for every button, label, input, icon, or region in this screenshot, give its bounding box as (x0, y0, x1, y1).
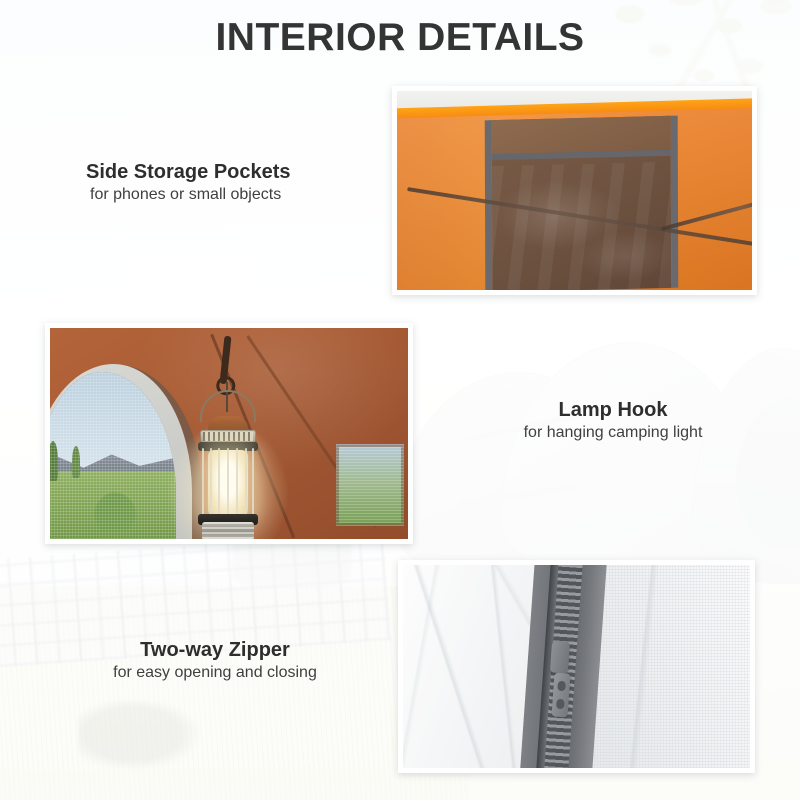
caption-heading: Side Storage Pockets (86, 160, 291, 185)
caption-subheading: for phones or small objects (86, 185, 291, 206)
camping-lantern (196, 416, 260, 539)
tent-mesh-door-view (50, 372, 176, 539)
caption-subheading: for easy opening and closing (70, 663, 360, 684)
caption-two-way-zipper: Two-way Zipper for easy opening and clos… (70, 638, 360, 684)
photo-two-way-zipper (398, 560, 755, 773)
zipper-pull-lower (551, 672, 570, 717)
caption-lamp-hook: Lamp Hook for hanging camping light (468, 398, 758, 444)
photo-side-storage-pockets (392, 86, 757, 295)
tent-side-window (336, 444, 404, 526)
photo-lamp-hook (45, 323, 413, 544)
infographic-stage: INTERIOR DETAILS Side Storage Pockets fo… (0, 0, 800, 800)
page-title: INTERIOR DETAILS (0, 16, 800, 60)
storage-pocket (485, 116, 679, 290)
caption-side-storage-pockets: Side Storage Pockets for phones or small… (86, 160, 291, 206)
zipper-pull-upper (550, 640, 570, 673)
caption-heading: Two-way Zipper (70, 638, 360, 663)
caption-heading: Lamp Hook (468, 398, 758, 423)
caption-subheading: for hanging camping light (468, 423, 758, 444)
